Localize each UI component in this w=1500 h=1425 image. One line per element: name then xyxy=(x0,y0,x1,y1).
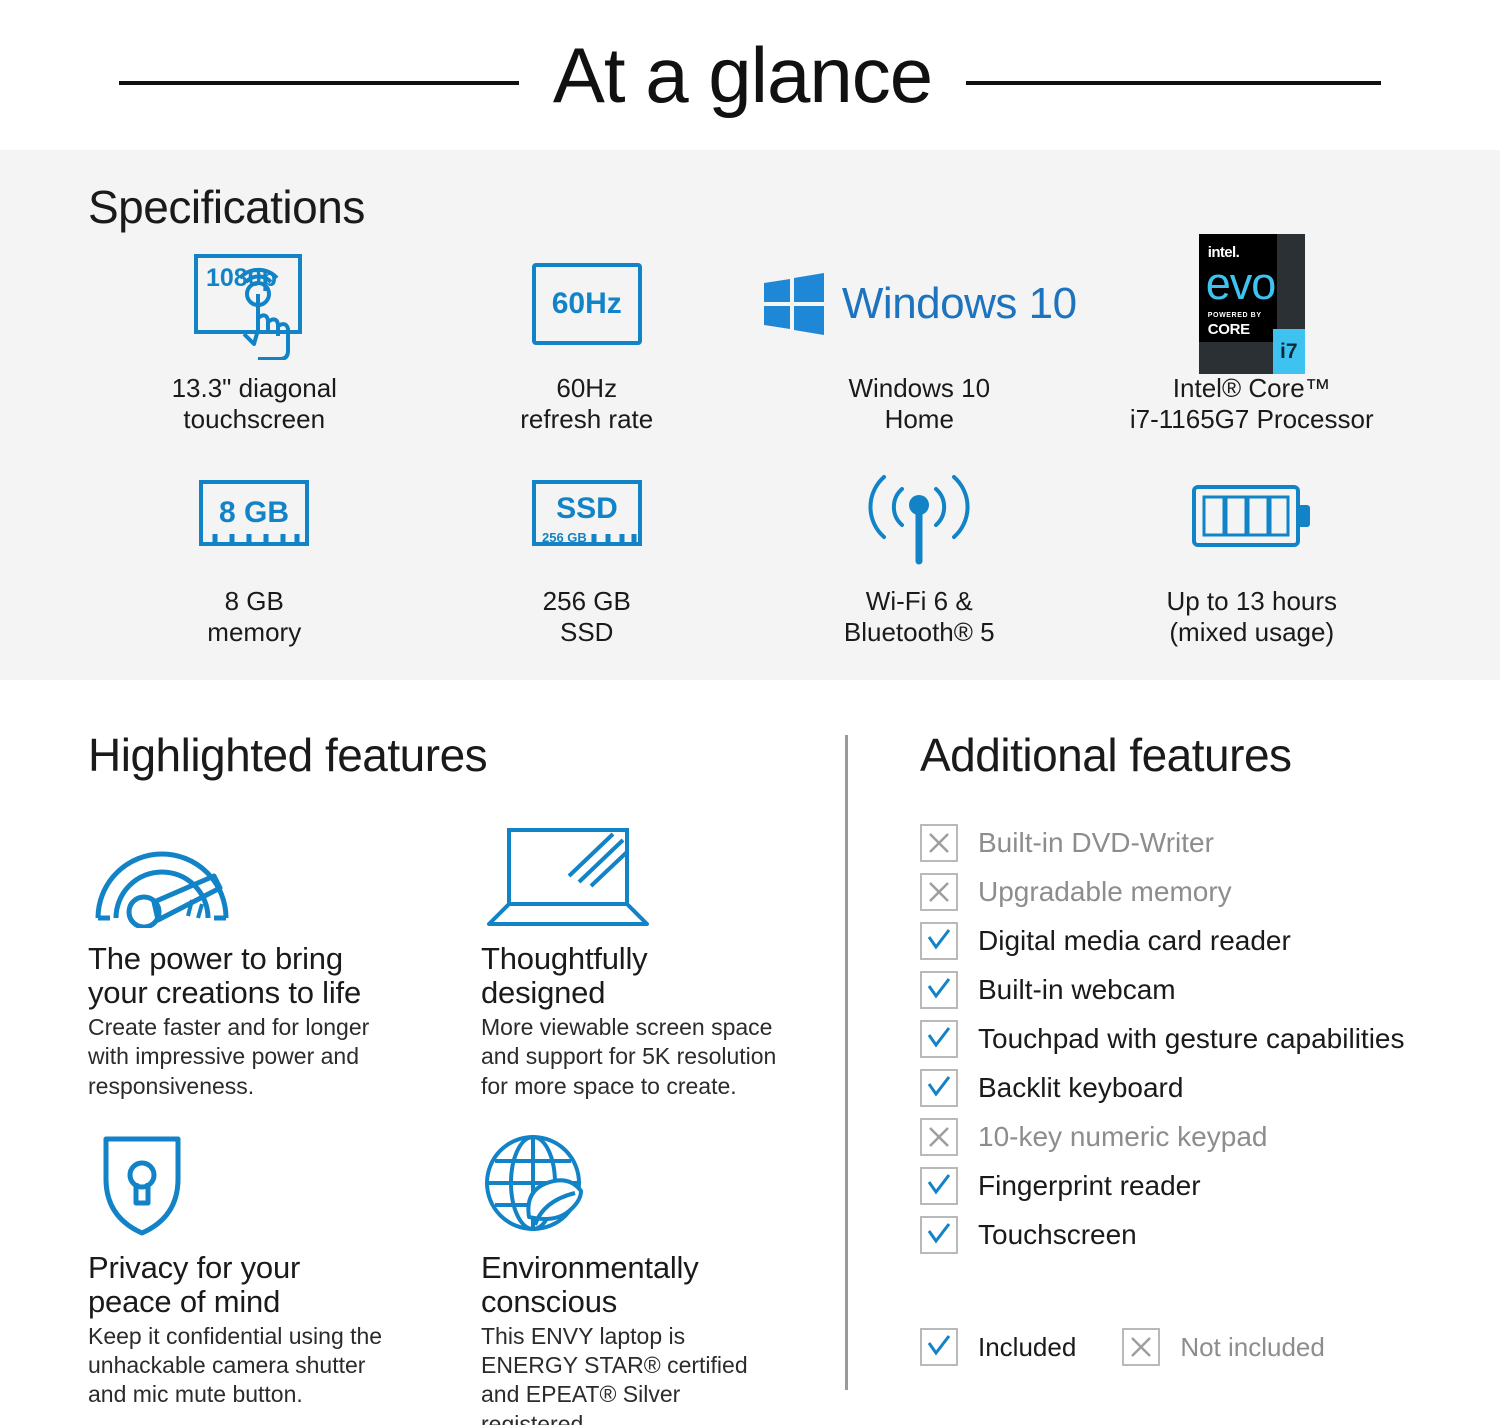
cross-icon xyxy=(920,1118,958,1156)
display-touchscreen-icon: 1080p xyxy=(184,245,324,363)
processor-tier-badge: i7 xyxy=(1273,329,1305,374)
feature-power: The power to bring your creations to lif… xyxy=(88,820,388,1101)
check-icon xyxy=(920,971,958,1009)
specifications-title: Specifications xyxy=(88,180,365,234)
check-icon xyxy=(920,1167,958,1205)
refresh-rate-badge-text: 60Hz xyxy=(532,263,642,345)
legend-not-included: Not included xyxy=(1122,1328,1325,1366)
feature-design: Thoughtfully designed More viewable scre… xyxy=(481,820,781,1101)
highlighted-features-grid: The power to bring your creations to lif… xyxy=(88,820,788,1425)
feature-row-card-reader: Digital media card reader xyxy=(920,916,1480,965)
refresh-rate-icon: 60Hz xyxy=(532,245,642,363)
svg-text:256 GB: 256 GB xyxy=(542,530,587,545)
memory-module-icon: 8 GB xyxy=(187,458,321,576)
spec-label-os: Windows 10 Home xyxy=(848,373,990,436)
check-icon xyxy=(920,922,958,960)
spec-label-refresh-rate: 60Hz refresh rate xyxy=(520,373,653,436)
feature-label: Upgradable memory xyxy=(978,876,1232,908)
feature-design-body: More viewable screen space and support f… xyxy=(481,1013,781,1101)
evo-wordmark: evo xyxy=(1206,261,1276,306)
laptop-screen-icon xyxy=(481,820,781,928)
spec-item-wireless: Wi-Fi 6 & Bluetooth® 5 xyxy=(753,458,1086,649)
spec-label-wireless: Wi-Fi 6 & Bluetooth® 5 xyxy=(844,586,995,649)
speedometer-icon xyxy=(88,820,388,928)
cross-icon xyxy=(1122,1328,1160,1366)
spec-label-storage: 256 GB SSD xyxy=(543,586,631,649)
spec-item-os: Windows 10 Windows 10 Home xyxy=(753,245,1086,436)
feature-label: Backlit keyboard xyxy=(978,1072,1183,1104)
feature-label: Touchscreen xyxy=(978,1219,1137,1251)
feature-row-numeric-keypad: 10-key numeric keypad xyxy=(920,1112,1480,1161)
additional-features-list: Built-in DVD-Writer Upgradable memory Di… xyxy=(920,818,1480,1259)
feature-row-touchscreen: Touchscreen xyxy=(920,1210,1480,1259)
feature-environment: Environmentally conscious This ENVY lapt… xyxy=(481,1129,781,1425)
header-rule-right xyxy=(966,81,1381,85)
checklist-legend: Included Not included xyxy=(920,1328,1371,1366)
feature-power-body: Create faster and for longer with impres… xyxy=(88,1013,388,1101)
cross-icon xyxy=(920,824,958,862)
feature-environment-heading: Environmentally conscious xyxy=(481,1251,781,1319)
powered-by-text: POWERED BY xyxy=(1208,312,1262,319)
feature-environment-body: This ENVY laptop is ENERGY STAR® certifi… xyxy=(481,1322,781,1425)
specifications-panel: Specifications 1080p xyxy=(0,150,1500,680)
wifi-antenna-icon xyxy=(854,458,984,576)
highlighted-features-title: Highlighted features xyxy=(88,728,487,782)
spec-label-battery: Up to 13 hours (mixed usage) xyxy=(1166,586,1337,649)
feature-label: Touchpad with gesture capabilities xyxy=(978,1023,1404,1055)
spec-item-battery: Up to 13 hours (mixed usage) xyxy=(1086,458,1419,649)
column-divider xyxy=(845,735,848,1390)
svg-text:SSD: SSD xyxy=(556,492,618,525)
feature-row-upgradable-memory: Upgradable memory xyxy=(920,867,1480,916)
additional-features-title: Additional features xyxy=(920,728,1292,782)
check-icon xyxy=(920,1069,958,1107)
at-a-glance-sheet: At a glance Specifications 1080p xyxy=(0,0,1500,1425)
spec-item-display: 1080p 13.3" diagonal touchscreen xyxy=(88,245,421,436)
spec-label-memory: 8 GB memory xyxy=(207,586,301,649)
feature-label: Built-in webcam xyxy=(978,974,1176,1006)
header-rule-left xyxy=(119,81,519,85)
spec-label-display: 13.3" diagonal touchscreen xyxy=(172,373,337,436)
legend-not-included-label: Not included xyxy=(1180,1332,1325,1363)
core-wordmark: CORE xyxy=(1208,321,1250,338)
feature-label: 10-key numeric keypad xyxy=(978,1121,1267,1153)
globe-leaf-icon xyxy=(481,1129,781,1237)
spec-item-storage: SSD 256 GB 256 GB SSD xyxy=(421,458,754,649)
feature-row-fingerprint-reader: Fingerprint reader xyxy=(920,1161,1480,1210)
svg-text:8 GB: 8 GB xyxy=(219,496,289,529)
feature-privacy: Privacy for your peace of mind Keep it c… xyxy=(88,1129,388,1425)
check-icon xyxy=(920,1216,958,1254)
check-icon xyxy=(920,1328,958,1366)
page-header: At a glance xyxy=(0,0,1500,150)
check-icon xyxy=(920,1020,958,1058)
spec-item-processor: intel. evo POWERED BY CORE i7 Intel® Cor… xyxy=(1086,245,1419,436)
spec-label-processor: Intel® Core™ i7-1165G7 Processor xyxy=(1130,373,1374,436)
feature-label: Built-in DVD-Writer xyxy=(978,827,1214,859)
battery-icon xyxy=(1182,458,1322,576)
spec-item-refresh-rate: 60Hz 60Hz refresh rate xyxy=(421,245,754,436)
ssd-icon: SSD 256 GB xyxy=(520,458,654,576)
features-section: Highlighted features Additional features xyxy=(0,700,1500,1425)
feature-power-heading: The power to bring your creations to lif… xyxy=(88,942,388,1010)
feature-label: Digital media card reader xyxy=(978,925,1291,957)
feature-privacy-heading: Privacy for your peace of mind xyxy=(88,1251,388,1319)
specifications-grid: 1080p 13.3" diagonal touchscreen 60Hz xyxy=(88,245,1418,649)
page-title: At a glance xyxy=(553,36,932,114)
windows-logo-icon: Windows 10 xyxy=(762,245,1077,363)
legend-included-label: Included xyxy=(978,1332,1076,1363)
feature-row-dvd-writer: Built-in DVD-Writer xyxy=(920,818,1480,867)
feature-row-backlit-keyboard: Backlit keyboard xyxy=(920,1063,1480,1112)
cross-icon xyxy=(920,873,958,911)
feature-row-touchpad: Touchpad with gesture capabilities xyxy=(920,1014,1480,1063)
intel-evo-badge-icon: intel. evo POWERED BY CORE i7 xyxy=(1199,245,1305,363)
shield-keyhole-icon xyxy=(88,1129,388,1237)
feature-design-heading: Thoughtfully designed xyxy=(481,942,781,1010)
windows-logo-text: Windows 10 xyxy=(842,279,1077,329)
spec-item-memory: 8 GB 8 GB memory xyxy=(88,458,421,649)
feature-privacy-body: Keep it confidential using the unhackabl… xyxy=(88,1322,388,1410)
feature-label: Fingerprint reader xyxy=(978,1170,1201,1202)
legend-included: Included xyxy=(920,1328,1076,1366)
feature-row-webcam: Built-in webcam xyxy=(920,965,1480,1014)
